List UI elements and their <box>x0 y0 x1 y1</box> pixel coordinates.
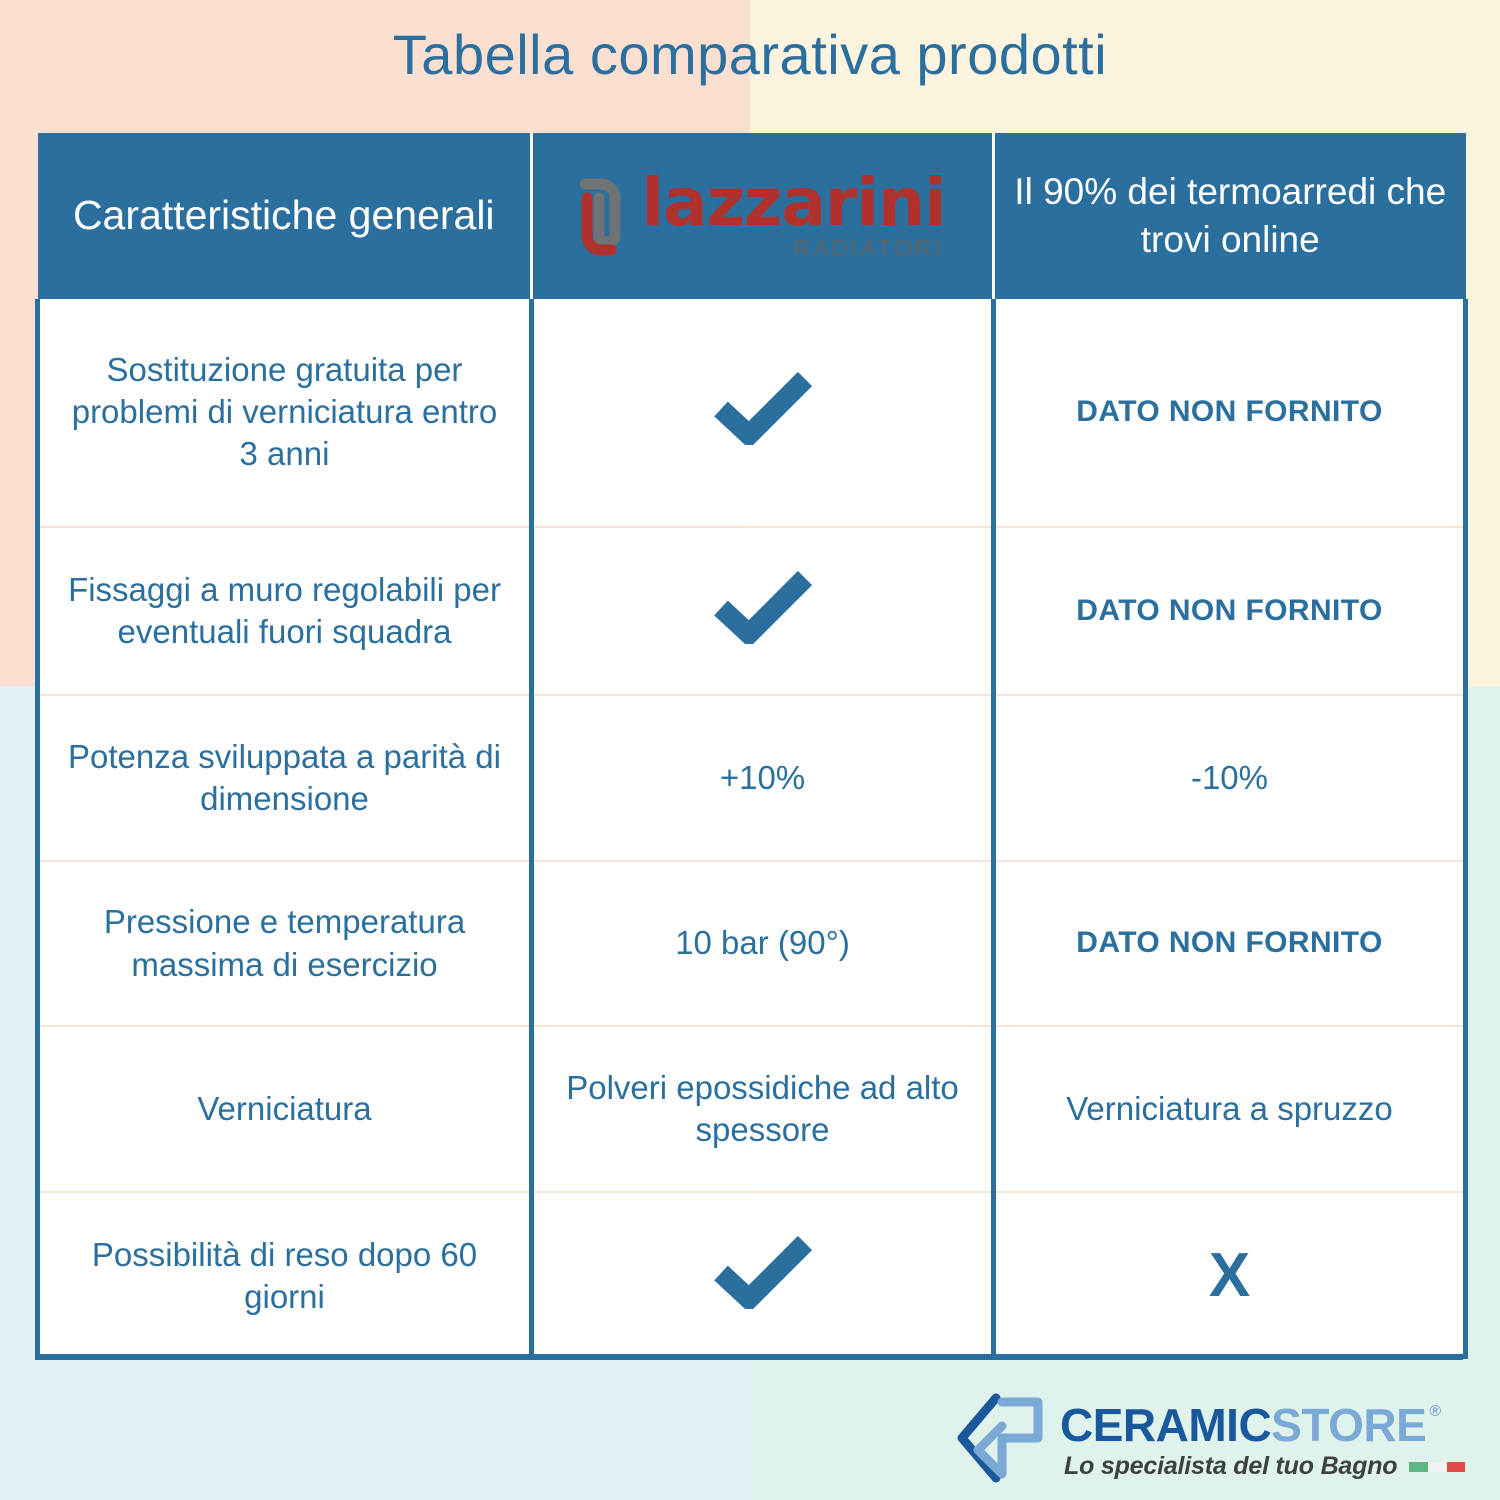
cell-brand-value <box>532 1192 994 1359</box>
cell-brand-value: +10% <box>532 695 994 861</box>
cross-icon: X <box>1209 1245 1250 1307</box>
cell-feature: Sostituzione gratuita per problemi di ve… <box>38 299 532 527</box>
cell-brand-value <box>532 299 994 527</box>
cell-competitor-value: Verniciatura a spruzzo <box>994 1026 1466 1192</box>
ceramicstore-wordmark: CERAMICSTORE® <box>1060 1402 1465 1448</box>
table-row: Sostituzione gratuita per problemi di ve… <box>38 299 1466 527</box>
lazzarini-mark-icon <box>579 178 627 260</box>
header-cell-competitors: Il 90% dei termoarredi che trovi online <box>994 133 1466 299</box>
cell-brand-value: Polveri epossidiche ad alto spessore <box>532 1026 994 1192</box>
table-row: Possibilità di reso dopo 60 giorni X <box>38 1192 1466 1359</box>
lazzarini-wordgroup: lazzarini RADIATORI <box>641 172 945 260</box>
cell-competitor-value: DATO NON FORNITO <box>994 861 1466 1027</box>
lazzarini-wordmark: lazzarini <box>641 172 945 235</box>
lazzarini-subtitle: RADIATORI <box>794 237 944 260</box>
table-header-row: Caratteristiche generali lazzarini RADIA… <box>38 133 1466 299</box>
cell-competitor-value: X <box>994 1192 1466 1359</box>
check-icon <box>711 1233 815 1319</box>
ceramicstore-word-secondary: STORE <box>1271 1402 1426 1448</box>
cell-competitor-value: DATO NON FORNITO <box>994 299 1466 527</box>
table-row: Pressione e temperatura massima di eserc… <box>38 861 1466 1027</box>
table-row: Verniciatura Polveri epossidiche ad alto… <box>38 1026 1466 1192</box>
cell-feature: Verniciatura <box>38 1026 532 1192</box>
cell-feature: Potenza sviluppata a parità di dimension… <box>38 695 532 861</box>
ceramicstore-tagline-row: Lo specialista del tuo Bagno <box>1060 1454 1465 1479</box>
table-body: Sostituzione gratuita per problemi di ve… <box>38 299 1466 1359</box>
ceramicstore-logo: CERAMICSTORE® Lo specialista del tuo Bag… <box>952 1392 1465 1489</box>
table-bottom-border <box>35 1354 1463 1360</box>
page-title: Tabella comparativa prodotti <box>0 26 1500 85</box>
table-row: Fissaggi a muro regolabili per eventuali… <box>38 527 1466 695</box>
ceramicstore-chevron-icon <box>952 1392 1044 1489</box>
cell-feature: Fissaggi a muro regolabili per eventuali… <box>38 527 532 695</box>
ceramicstore-textblock: CERAMICSTORE® Lo specialista del tuo Bag… <box>1060 1402 1465 1479</box>
cell-competitor-value: -10% <box>994 695 1466 861</box>
cell-brand-value: 10 bar (90°) <box>532 861 994 1027</box>
italian-flag-icon <box>1409 1462 1465 1472</box>
registered-mark-icon: ® <box>1429 1404 1440 1420</box>
ceramicstore-word-primary: CERAMIC <box>1060 1402 1271 1448</box>
cell-feature: Possibilità di reso dopo 60 giorni <box>38 1192 532 1359</box>
table-header: Caratteristiche generali lazzarini RADIA… <box>38 133 1466 299</box>
header-competitors-label: Il 90% dei termoarredi che trovi online <box>1009 168 1452 264</box>
header-cell-features: Caratteristiche generali <box>38 133 532 299</box>
cell-competitor-value: DATO NON FORNITO <box>994 527 1466 695</box>
table-row: Potenza sviluppata a parità di dimension… <box>38 695 1466 861</box>
check-icon <box>711 568 815 654</box>
comparison-table: Caratteristiche generali lazzarini RADIA… <box>35 133 1468 1359</box>
cell-feature: Pressione e temperatura massima di eserc… <box>38 861 532 1027</box>
lazzarini-logo: lazzarini RADIATORI <box>547 172 978 260</box>
header-features-label: Caratteristiche generali <box>52 190 517 241</box>
ceramicstore-tagline: Lo specialista del tuo Bagno <box>1064 1454 1397 1479</box>
header-cell-brand: lazzarini RADIATORI <box>532 133 994 299</box>
check-icon <box>711 369 815 455</box>
cell-brand-value <box>532 527 994 695</box>
